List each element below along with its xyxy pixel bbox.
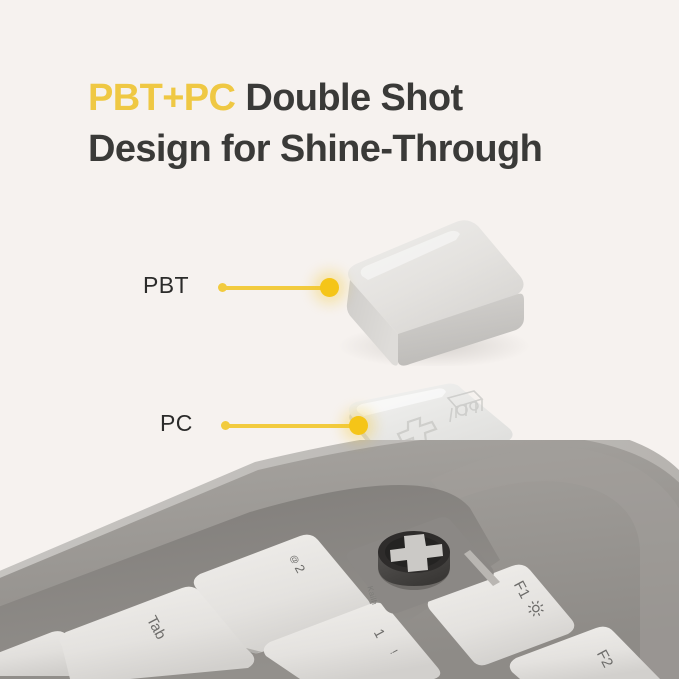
callout-line-pbt <box>222 286 328 290</box>
callout-dot-end-pc <box>349 416 368 435</box>
headline-accent: PBT+PC <box>88 77 235 119</box>
callout-label-pc: PC <box>160 410 193 437</box>
product-feature-graphic: PBT+PC Double Shot Design for Shine-Thro… <box>0 0 679 679</box>
callout-dot-start-pc <box>221 421 230 430</box>
callout-label-pbt: PBT <box>143 272 189 299</box>
mechanical-switch <box>378 531 450 590</box>
callout-dot-end-pbt <box>320 278 339 297</box>
esc-keycap: ESC <box>306 214 542 366</box>
callout-dot-start-pbt <box>218 283 227 292</box>
keyboard-body <box>0 440 679 679</box>
callout-line-pc <box>225 424 357 428</box>
page-title: PBT+PC Double Shot Design for Shine-Thro… <box>88 73 648 174</box>
